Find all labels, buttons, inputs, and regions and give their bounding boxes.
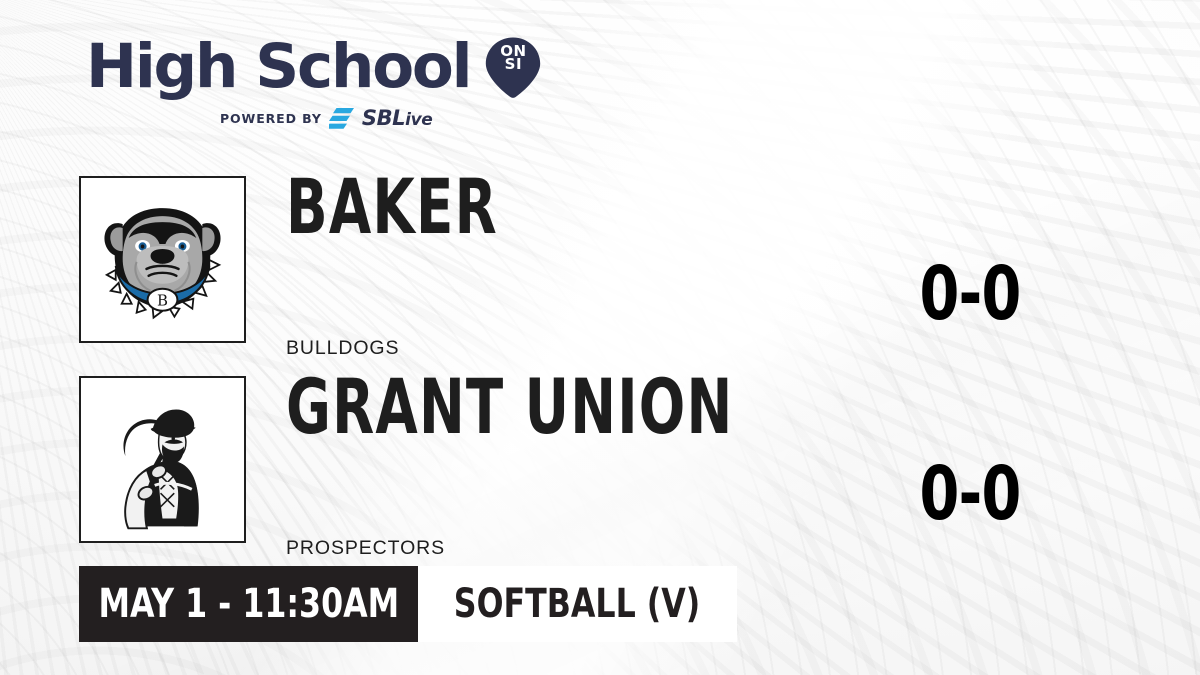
game-datetime-segment: MAY 1 - 11:30AM [79,566,418,642]
onsi-pin-icon: ON SI [482,36,544,98]
game-sport-segment: SOFTBALL (V) [418,566,737,642]
team-logo-box-1: B [79,176,246,343]
team-name-1: BAKER [286,174,498,239]
powered-by-row: POWERED BY SBLive [108,108,544,129]
sblive-wordmark: SBLive [362,108,433,129]
prospector-miner-icon [81,378,244,541]
powered-by-label: POWERED BY [220,111,322,126]
team-name-2: GRANT UNION [286,374,733,439]
onsi-pin-label: ON SI [482,45,544,71]
team-mascot-2: PROSPECTORS [286,537,445,560]
game-info-bar: MAY 1 - 11:30AM SOFTBALL (V) [79,566,737,642]
bulldog-head-icon: B [81,178,244,341]
game-datetime-label: MAY 1 - 11:30AM [98,581,399,627]
sblive-bolt-icon [329,108,355,129]
game-sport-label: SOFTBALL (V) [454,581,700,627]
sblive-name: SBL [362,106,405,130]
team-logo-box-2 [79,376,246,543]
game-matchup-card: High School ON SI POWERED BY SBLive [0,0,1200,675]
brand-title: High School [86,36,470,97]
brand-logo-row: High School ON SI [86,34,544,98]
onsi-pin-line2: SI [482,58,544,71]
brand-header: High School ON SI POWERED BY SBLive [86,34,544,129]
sblive-suffix: ive [405,110,432,130]
team-mascot-1: BULLDOGS [286,337,399,360]
team-record-1: 0-0 [884,257,1056,331]
svg-text:B: B [157,292,168,310]
team-record-2: 0-0 [884,457,1056,531]
